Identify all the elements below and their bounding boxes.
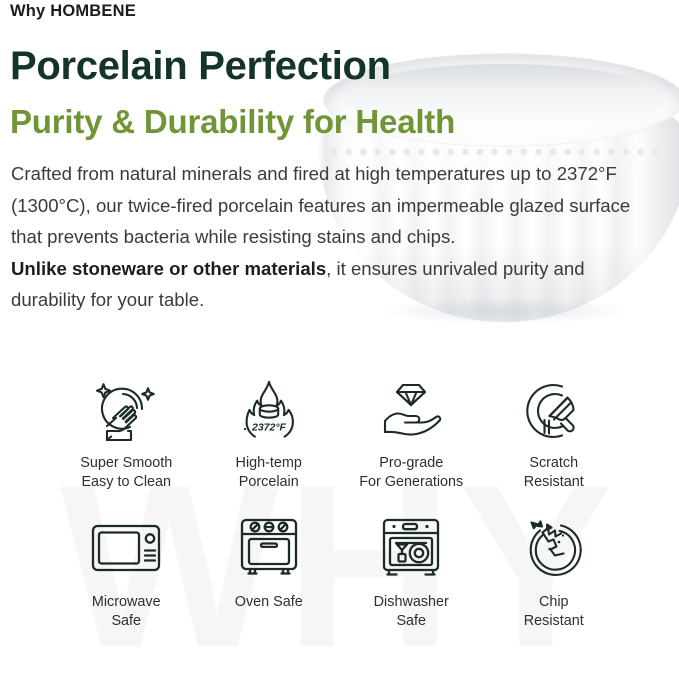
feature-oven-safe: Oven Safe <box>198 512 341 631</box>
microwave-icon <box>88 512 164 584</box>
feature-label: Super Smooth Easy to Clean <box>80 454 172 492</box>
feature-dishwasher-safe: Dishwasher Safe <box>340 512 483 631</box>
oven-icon <box>231 512 307 584</box>
chipped-plate-icon <box>516 512 592 584</box>
flame-temperature-label: 2372°F <box>251 422 287 434</box>
body-copy: Crafted from natural minerals and fired … <box>11 158 643 316</box>
feature-label: Dishwasher Safe <box>374 593 449 631</box>
body-paragraph-2-bold: Unlike stoneware or other materials <box>11 258 326 279</box>
feature-high-temp: 2372°F High-temp Porcelain <box>198 375 341 492</box>
sparkle-hand-wipe-plate-icon <box>88 375 164 447</box>
brand-tagline: Why HOMBENE <box>10 2 136 21</box>
diamond-in-hand-icon <box>373 375 449 447</box>
feature-grid: Super Smooth Easy to Clean 2372°F High-t… <box>55 375 625 631</box>
flame-porcelain-icon: 2372°F <box>231 375 307 447</box>
feature-label: Pro-grade For Generations <box>359 454 463 492</box>
page-title: Porcelain Perfection <box>10 44 391 89</box>
page-subtitle: Purity & Durability for Health <box>10 103 455 141</box>
feature-label: Chip Resistant <box>524 593 584 631</box>
feature-pro-grade: Pro-grade For Generations <box>340 375 483 492</box>
feature-label: Oven Safe <box>235 593 303 612</box>
feature-scratch-resistant: Scratch Resistant <box>483 375 626 492</box>
feature-super-smooth: Super Smooth Easy to Clean <box>55 375 198 492</box>
feature-label: Microwave Safe <box>92 593 161 631</box>
feature-microwave-safe: Microwave Safe <box>55 512 198 631</box>
body-paragraph-2: Unlike stoneware or other materials, it … <box>11 253 643 316</box>
dishwasher-icon <box>373 512 449 584</box>
feature-chip-resistant: Chip Resistant <box>483 512 626 631</box>
feature-label: Scratch Resistant <box>524 454 584 492</box>
feature-label: High-temp Porcelain <box>236 454 302 492</box>
knife-on-plate-icon <box>516 375 592 447</box>
body-paragraph-1: Crafted from natural minerals and fired … <box>11 158 643 253</box>
